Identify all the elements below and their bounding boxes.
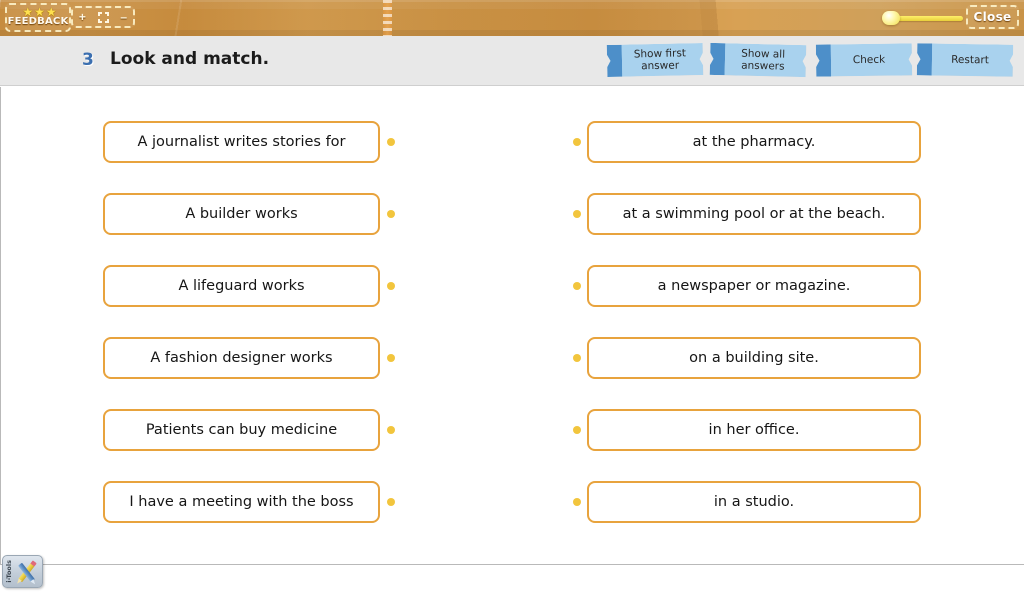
right-connector-dot[interactable] xyxy=(573,498,581,506)
right-card-text: in a studio. xyxy=(714,494,794,510)
match-row: A lifeguard works a newspaper or magazin… xyxy=(1,265,1024,307)
close-button[interactable]: Close xyxy=(966,5,1019,29)
right-connector-dot[interactable] xyxy=(573,210,581,218)
zoom-in-icon[interactable]: + xyxy=(79,11,86,23)
left-card-text: A lifeguard works xyxy=(178,278,304,294)
left-card-text: I have a meeting with the boss xyxy=(129,494,353,510)
fullscreen-icon[interactable] xyxy=(98,12,109,23)
right-card[interactable]: at the pharmacy. xyxy=(587,121,921,163)
left-connector-dot[interactable] xyxy=(387,498,395,506)
left-card[interactable]: A builder works xyxy=(103,193,380,235)
right-card[interactable]: on a building site. xyxy=(587,337,921,379)
show-all-answers-label: Show all answers xyxy=(726,43,801,77)
right-card-text: on a building site. xyxy=(689,350,819,366)
left-connector-dot[interactable] xyxy=(387,354,395,362)
close-label: Close xyxy=(974,10,1012,24)
toolbar-wood-texture xyxy=(0,0,1024,36)
right-card-text: at a swimming pool or at the beach. xyxy=(623,206,886,222)
ticket-stub xyxy=(917,43,933,75)
right-card[interactable]: a newspaper or magazine. xyxy=(587,265,921,307)
zoom-out-icon[interactable]: – xyxy=(120,11,127,23)
show-first-answer-button[interactable]: Show first answer xyxy=(607,43,704,77)
show-first-answer-label: Show first answer xyxy=(623,43,698,77)
itools-label: i-Tools xyxy=(5,560,13,583)
matching-canvas: A journalist writes stories for at the p… xyxy=(0,87,1024,565)
match-row: A fashion designer works on a building s… xyxy=(1,337,1024,379)
right-card-text: at the pharmacy. xyxy=(693,134,816,150)
restart-label: Restart xyxy=(933,43,1007,76)
match-row: A journalist writes stories for at the p… xyxy=(1,121,1024,163)
left-connector-dot[interactable] xyxy=(387,138,395,146)
left-card[interactable]: A fashion designer works xyxy=(103,337,380,379)
right-card-text: in her office. xyxy=(709,422,800,438)
right-connector-dot[interactable] xyxy=(573,354,581,362)
left-card[interactable]: A journalist writes stories for xyxy=(103,121,380,163)
exercise-number: 3 xyxy=(82,50,94,70)
left-card-text: A builder works xyxy=(185,206,297,222)
opacity-slider-knob[interactable] xyxy=(882,11,900,25)
itools-button[interactable]: i-Tools xyxy=(2,555,43,588)
feedback-button[interactable]: ★★★ FEEDBACK xyxy=(5,3,71,32)
ticket-stub xyxy=(607,45,623,77)
show-all-answers-button[interactable]: Show all answers xyxy=(710,43,807,77)
right-card-text: a newspaper or magazine. xyxy=(658,278,851,294)
feedback-label: FEEDBACK xyxy=(8,17,69,27)
restart-button[interactable]: Restart xyxy=(917,43,1013,77)
opacity-slider-track[interactable] xyxy=(893,16,963,21)
match-row: Patients can buy medicine in her office. xyxy=(1,409,1024,451)
right-card[interactable]: at a swimming pool or at the beach. xyxy=(587,193,921,235)
match-row: A builder works at a swimming pool or at… xyxy=(1,193,1024,235)
right-connector-dot[interactable] xyxy=(573,426,581,434)
page-title: Look and match. xyxy=(110,49,269,69)
zoom-controls-group: + – xyxy=(71,6,135,28)
right-connector-dot[interactable] xyxy=(573,282,581,290)
top-toolbar: ★★★ FEEDBACK + – Close xyxy=(0,0,1024,36)
check-label: Check xyxy=(832,43,906,76)
left-connector-dot[interactable] xyxy=(387,426,395,434)
ticket-stub xyxy=(816,44,831,76)
left-card[interactable]: I have a meeting with the boss xyxy=(103,481,380,523)
pencils-icon xyxy=(14,559,40,585)
right-connector-dot[interactable] xyxy=(573,138,581,146)
ticket-stub xyxy=(710,43,726,75)
left-card[interactable]: Patients can buy medicine xyxy=(103,409,380,451)
check-button[interactable]: Check xyxy=(816,43,912,76)
right-card[interactable]: in a studio. xyxy=(587,481,921,523)
left-card[interactable]: A lifeguard works xyxy=(103,265,380,307)
right-card[interactable]: in her office. xyxy=(587,409,921,451)
left-connector-dot[interactable] xyxy=(387,282,395,290)
left-card-text: A fashion designer works xyxy=(150,350,332,366)
left-card-text: A journalist writes stories for xyxy=(137,134,345,150)
left-card-text: Patients can buy medicine xyxy=(146,422,337,438)
toolbar-seam xyxy=(383,0,392,36)
match-row: I have a meeting with the boss in a stud… xyxy=(1,481,1024,523)
left-connector-dot[interactable] xyxy=(387,210,395,218)
